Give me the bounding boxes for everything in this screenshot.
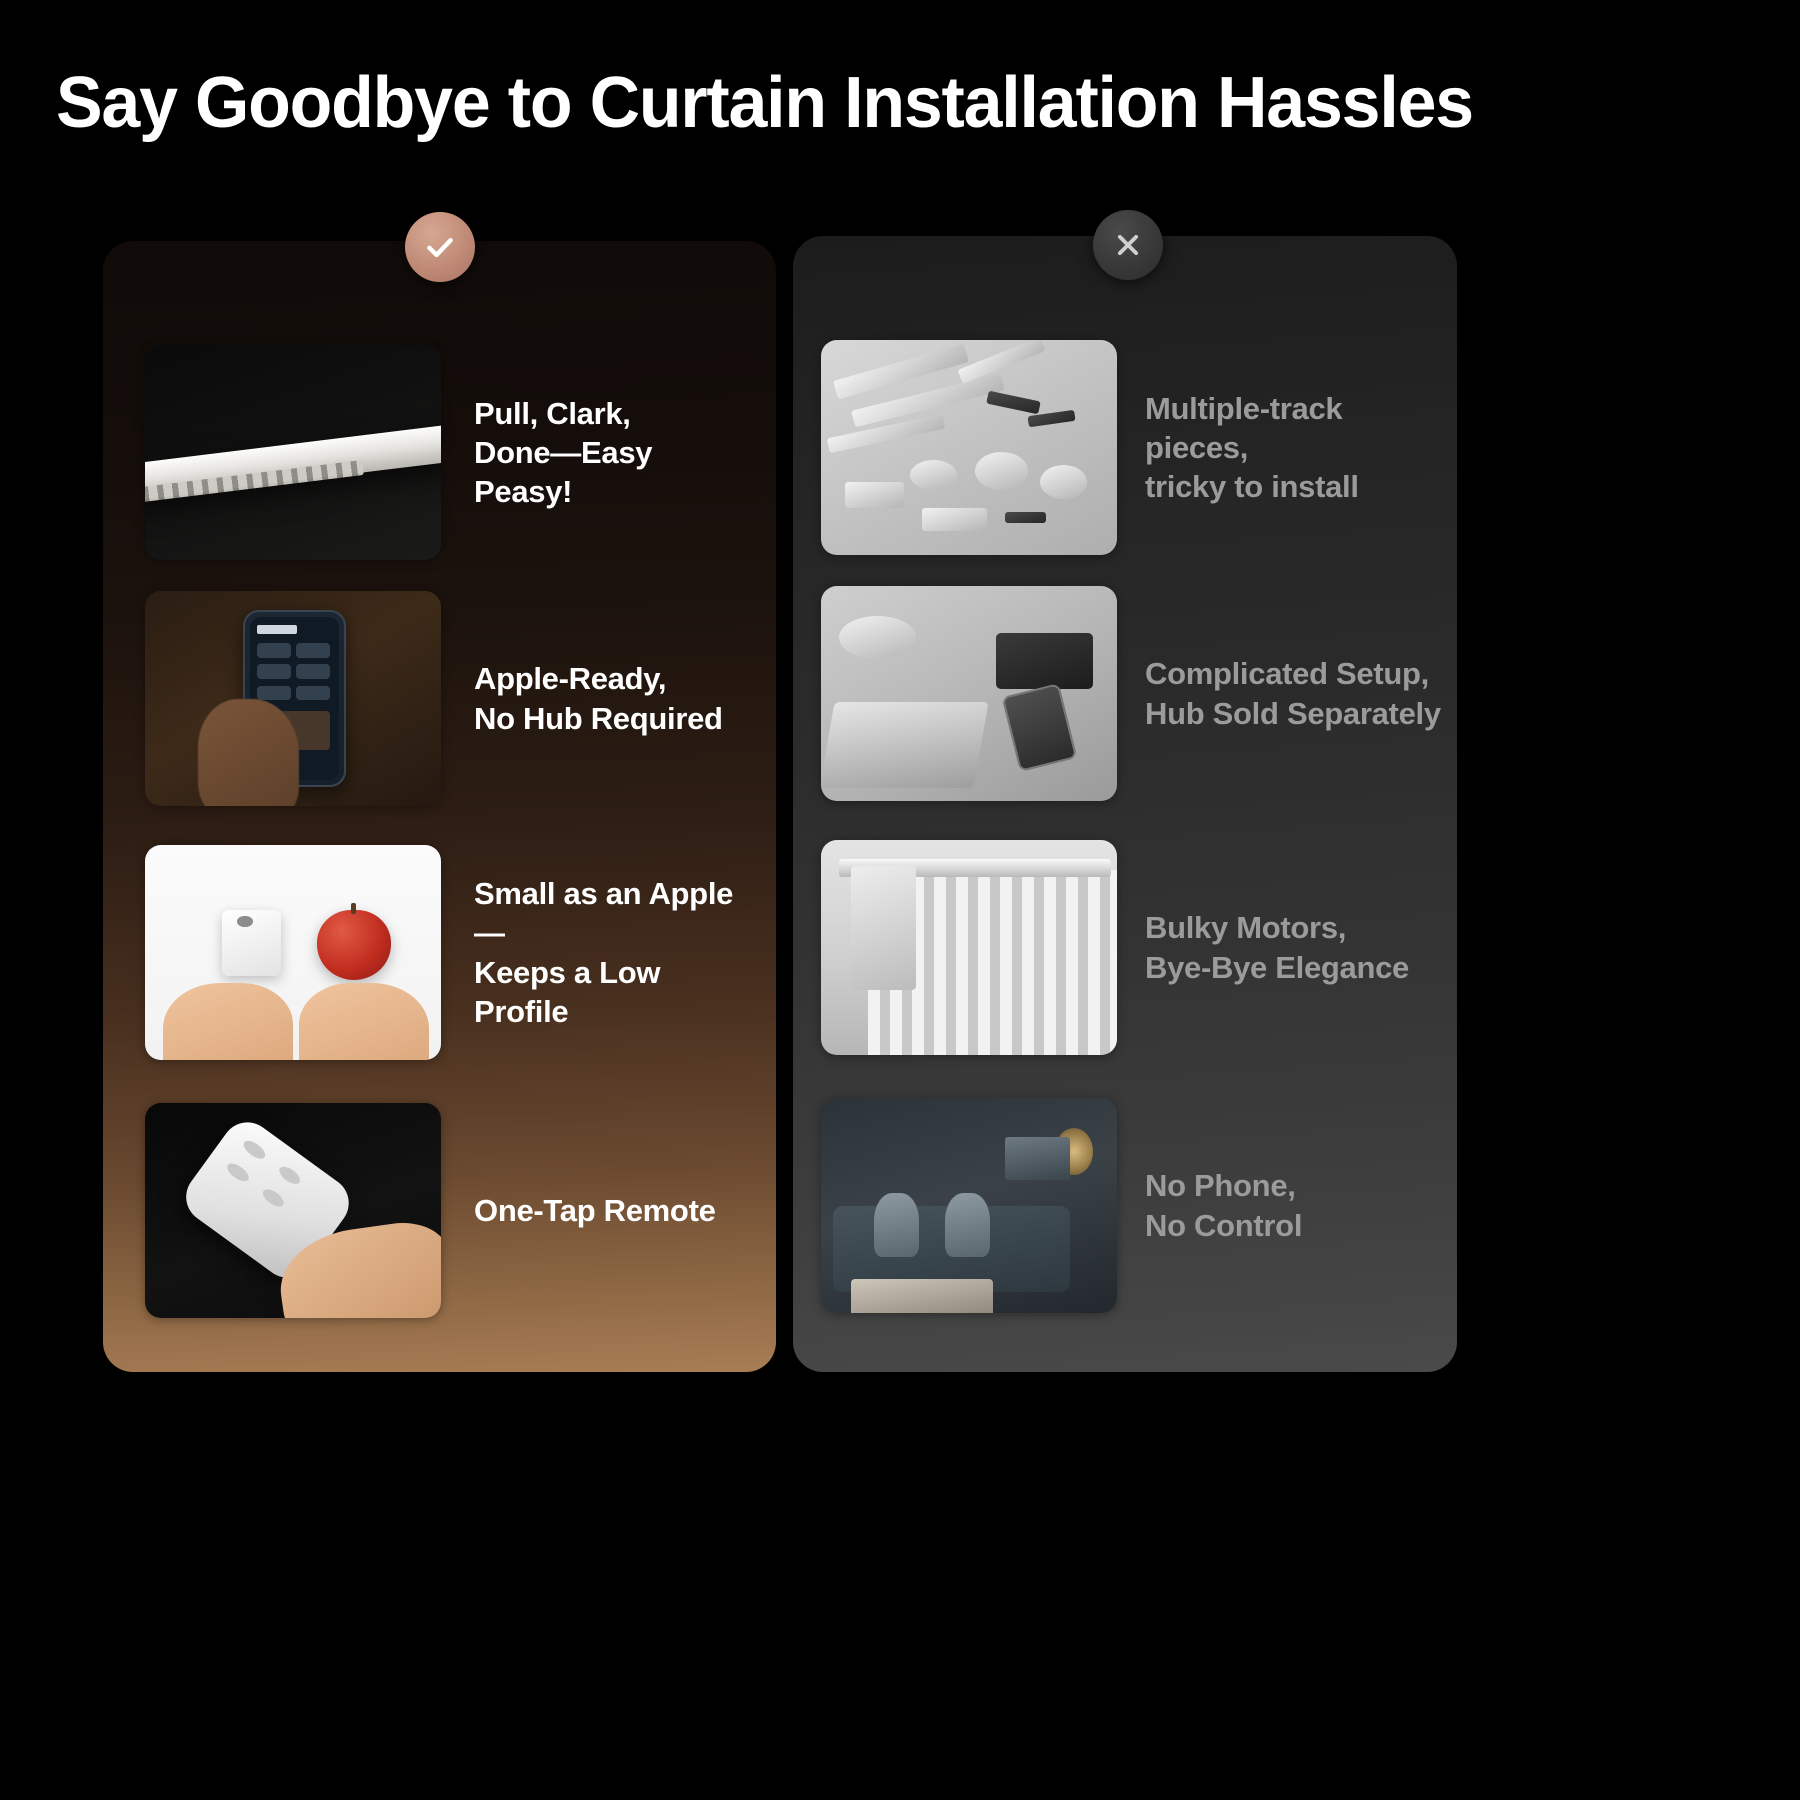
list-item: One-Tap Remote bbox=[145, 1103, 745, 1318]
hand-art bbox=[163, 983, 293, 1060]
remote-in-hand-art bbox=[145, 1103, 441, 1318]
app-tile bbox=[257, 686, 291, 701]
pro-rows: Pull, Clark, Done—Easy Peasy! bbox=[103, 241, 776, 1372]
con-rows: Multiple-track pieces, tricky to install… bbox=[793, 236, 1457, 1372]
app-tile bbox=[257, 643, 291, 658]
remote-button bbox=[260, 1186, 287, 1210]
thumbnail-device-apple bbox=[145, 845, 441, 1060]
list-item-label: One-Tap Remote bbox=[474, 1191, 716, 1230]
thumbnail-phone-app bbox=[145, 591, 441, 806]
close-icon bbox=[1113, 230, 1143, 260]
app-tile bbox=[257, 664, 291, 679]
laptop-device bbox=[821, 702, 988, 788]
bulky-motor-curtain-art bbox=[821, 840, 1117, 1055]
thumbnail-curtain-track bbox=[145, 345, 441, 560]
app-tile bbox=[296, 686, 330, 701]
phone-in-hand-art bbox=[145, 591, 441, 806]
list-item: Bulky Motors, Bye-Bye Elegance bbox=[821, 840, 1441, 1055]
list-item-label: Pull, Clark, Done—Easy Peasy! bbox=[474, 394, 745, 511]
thumbnail-desk-setup bbox=[821, 586, 1117, 801]
hand-art bbox=[299, 983, 429, 1060]
remote-button bbox=[241, 1137, 268, 1161]
list-item-label: Apple-Ready, No Hub Required bbox=[474, 659, 723, 737]
track-rail-art bbox=[145, 345, 441, 560]
con-panel: Multiple-track pieces, tricky to install… bbox=[793, 236, 1457, 1372]
thumbnail-bulky-motor bbox=[821, 840, 1117, 1055]
cluttered-desk-art bbox=[821, 586, 1117, 801]
coffee-table bbox=[851, 1279, 993, 1313]
scattered-parts-art bbox=[821, 340, 1117, 555]
device-and-apple-art bbox=[145, 845, 441, 1060]
list-item-label: Complicated Setup, Hub Sold Separately bbox=[1145, 654, 1441, 732]
list-item-label: No Phone, No Control bbox=[1145, 1166, 1302, 1244]
app-tile bbox=[296, 643, 330, 658]
remote-button bbox=[277, 1163, 304, 1187]
check-icon bbox=[423, 230, 457, 264]
app-header-bar bbox=[257, 625, 297, 633]
list-item: Pull, Clark, Done—Easy Peasy! bbox=[145, 345, 745, 560]
pro-panel: Pull, Clark, Done—Easy Peasy! bbox=[103, 241, 776, 1372]
apple-fruit bbox=[317, 910, 391, 981]
remote-button bbox=[225, 1160, 252, 1184]
thumbnail-living-room bbox=[821, 1098, 1117, 1313]
list-item-label: Small as an Apple— Keeps a Low Profile bbox=[474, 874, 745, 1030]
comparison-graphic: Say Goodbye to Curtain Installation Hass… bbox=[0, 0, 1800, 1800]
list-item-label: Multiple-track pieces, tricky to install bbox=[1145, 389, 1441, 506]
person-figure bbox=[874, 1193, 918, 1258]
dim-living-room-art bbox=[821, 1098, 1117, 1313]
list-item: Small as an Apple— Keeps a Low Profile bbox=[145, 845, 745, 1060]
thumbnail-remote bbox=[145, 1103, 441, 1318]
page-title: Say Goodbye to Curtain Installation Hass… bbox=[56, 62, 1473, 144]
list-item: Apple-Ready, No Hub Required bbox=[145, 591, 745, 806]
hand-art bbox=[198, 699, 299, 807]
phone-device bbox=[1002, 683, 1078, 772]
list-item: Multiple-track pieces, tricky to install bbox=[821, 340, 1441, 555]
tv-screen bbox=[1005, 1137, 1070, 1180]
motor-housing bbox=[851, 866, 916, 991]
list-item: Complicated Setup, Hub Sold Separately bbox=[821, 586, 1441, 801]
router-device bbox=[996, 633, 1094, 689]
motor-device bbox=[222, 910, 281, 977]
list-item: No Phone, No Control bbox=[821, 1098, 1441, 1313]
person-figure bbox=[945, 1193, 989, 1258]
check-badge bbox=[405, 212, 475, 282]
thumbnail-track-parts bbox=[821, 340, 1117, 555]
app-tile bbox=[296, 664, 330, 679]
list-item-label: Bulky Motors, Bye-Bye Elegance bbox=[1145, 908, 1409, 986]
close-badge bbox=[1093, 210, 1163, 280]
